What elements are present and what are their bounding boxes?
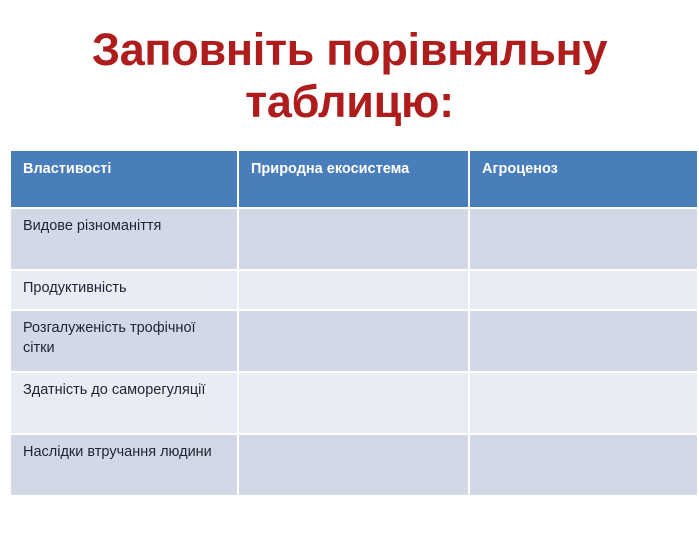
column-header-properties: Властивості xyxy=(11,151,238,208)
cell-agrocenosis-human-intervention-consequences[interactable] xyxy=(469,434,697,495)
table-row: Видове різноманіття xyxy=(11,208,697,270)
slide: Заповніть порівняльну таблицю: Властивос… xyxy=(0,0,699,558)
row-label-species-diversity: Видове різноманіття xyxy=(11,208,238,270)
page-title-line-1: Заповніть порівняльну xyxy=(0,24,699,76)
cell-natural-ecosystem-self-regulation[interactable] xyxy=(238,372,469,434)
comparison-table: Властивості Природна екосистема Агроцено… xyxy=(11,151,697,495)
table-header: Властивості Природна екосистема Агроцено… xyxy=(11,151,697,208)
cell-natural-ecosystem-trophic-web-branching[interactable] xyxy=(238,310,469,372)
table-header-row: Властивості Природна екосистема Агроцено… xyxy=(11,151,697,208)
cell-natural-ecosystem-species-diversity[interactable] xyxy=(238,208,469,270)
page-title: Заповніть порівняльну таблицю: xyxy=(0,24,699,128)
table-row: Наслідки втручання людини xyxy=(11,434,697,495)
cell-natural-ecosystem-human-intervention-consequences[interactable] xyxy=(238,434,469,495)
cell-agrocenosis-self-regulation[interactable] xyxy=(469,372,697,434)
cell-agrocenosis-trophic-web-branching[interactable] xyxy=(469,310,697,372)
column-header-agrocenosis: Агроценоз xyxy=(469,151,697,208)
table-body: Видове різноманіття Продуктивність Розга… xyxy=(11,208,697,495)
row-label-self-regulation: Здатність до саморегуляції xyxy=(11,372,238,434)
column-header-natural-ecosystem: Природна екосистема xyxy=(238,151,469,208)
table-row: Продуктивність xyxy=(11,270,697,310)
table-row: Здатність до саморегуляції xyxy=(11,372,697,434)
row-label-trophic-web-branching: Розгалуженість трофічної сітки xyxy=(11,310,238,372)
row-label-human-intervention-consequences: Наслідки втручання людини xyxy=(11,434,238,495)
cell-agrocenosis-productivity[interactable] xyxy=(469,270,697,310)
cell-agrocenosis-species-diversity[interactable] xyxy=(469,208,697,270)
row-label-productivity: Продуктивність xyxy=(11,270,238,310)
table-row: Розгалуженість трофічної сітки xyxy=(11,310,697,372)
comparison-table-wrapper: Властивості Природна екосистема Агроцено… xyxy=(11,151,697,495)
page-title-line-2: таблицю: xyxy=(0,76,699,128)
cell-natural-ecosystem-productivity[interactable] xyxy=(238,270,469,310)
